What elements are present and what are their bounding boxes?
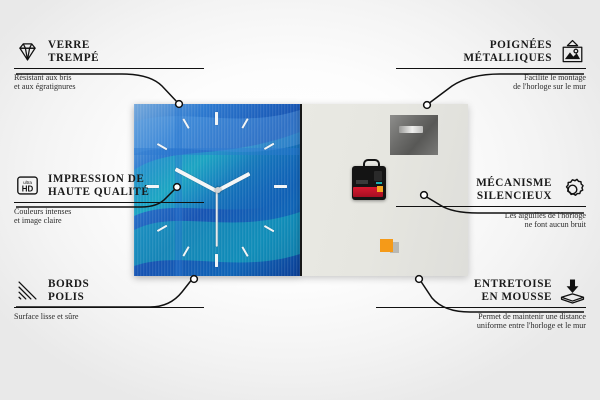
divider <box>14 202 204 203</box>
hotspot-poignees <box>424 102 431 109</box>
feature-mecanisme-silencieux[interactable]: MÉCANISME SILENCIEUX Les aiguilles de l'… <box>396 176 586 230</box>
feature-title: MÉCANISME SILENCIEUX <box>476 177 552 202</box>
ultra-hd-icon: ultra HD <box>14 172 41 199</box>
feature-subtitle: Facilite le montage de l'horloge sur le … <box>396 73 586 92</box>
divider <box>14 307 204 308</box>
feature-title: ENTRETOISE EN MOUSSE <box>474 278 552 303</box>
gear-icon <box>559 176 586 203</box>
feature-subtitle: Surface lisse et sûre <box>14 312 204 322</box>
divider <box>376 307 586 308</box>
polished-edges-icon <box>14 277 41 304</box>
divider <box>396 206 586 207</box>
feature-title: IMPRESSION DE HAUTE QUALITÉ <box>48 173 149 198</box>
feature-title: POIGNÉES MÉTALLIQUES <box>463 39 552 64</box>
divider <box>14 68 204 69</box>
feature-verre-trempe[interactable]: VERRE TREMPÉ Résistant aux bris et aux é… <box>14 38 204 92</box>
feature-subtitle: Résistant aux bris et aux égratignures <box>14 73 204 92</box>
feature-bords-polis[interactable]: BORDS POLIS Surface lisse et sûre <box>14 277 204 321</box>
feature-subtitle: Les aiguilles de l'horloge ne font aucun… <box>396 211 586 230</box>
feature-subtitle: Couleurs intenses et image claire <box>14 207 204 226</box>
feature-title: VERRE TREMPÉ <box>48 39 99 64</box>
divider <box>396 68 586 69</box>
svg-text:HD: HD <box>22 185 34 194</box>
feature-poignees-metalliques[interactable]: POIGNÉES MÉTALLIQUES Facilite le montage… <box>396 38 586 92</box>
hotspot-verre-trempe <box>176 101 183 108</box>
diamond-icon <box>14 38 41 65</box>
feature-impression-haute-qualite[interactable]: ultra HD IMPRESSION DE HAUTE QUALITÉ Cou… <box>14 172 204 226</box>
feature-entretoise-en-mousse[interactable]: ENTRETOISE EN MOUSSE Permet de maintenir… <box>376 277 586 331</box>
feature-title: BORDS POLIS <box>48 278 89 303</box>
infographic-canvas: VERRE TREMPÉ Résistant aux bris et aux é… <box>0 0 600 400</box>
framed-picture-hanging-icon <box>559 38 586 65</box>
foam-spacer-arrow-icon <box>559 277 586 304</box>
feature-subtitle: Permet de maintenir une distance uniform… <box>376 312 586 331</box>
